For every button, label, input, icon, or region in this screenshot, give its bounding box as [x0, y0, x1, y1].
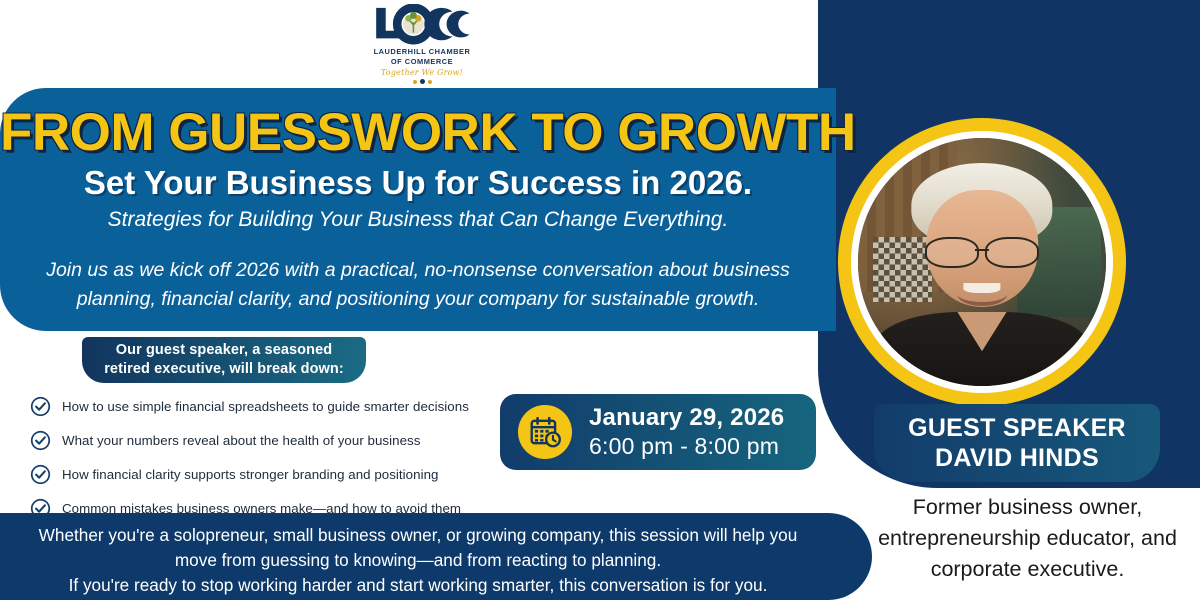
guest-speaker-callout: Our guest speaker, a seasoned retired ex… [82, 337, 366, 383]
list-item: How financial clarity supports stronger … [30, 460, 480, 488]
footer-line1: Whether you're a solopreneur, small busi… [12, 523, 824, 548]
speaker-name: DAVID HINDS [935, 443, 1099, 473]
check-circle-icon [30, 464, 51, 485]
footer-line3: If you're ready to stop working harder a… [12, 573, 824, 598]
hero-tagline: Strategies for Building Your Business th… [0, 208, 836, 232]
speaker-nameplate: GUEST SPEAKER DAVID HINDS [874, 404, 1160, 482]
check-circle-icon [30, 430, 51, 451]
chamber-logo-tagline: Together We Grow! [381, 68, 463, 77]
list-item-label: What your numbers reveal about the healt… [62, 433, 420, 448]
speaker-photo-inner-ring [851, 131, 1113, 393]
list-item: What your numbers reveal about the healt… [30, 426, 480, 454]
hero-subtitle: Set Your Business Up for Success in 2026… [0, 164, 836, 202]
speaker-photo-ring [838, 118, 1126, 406]
chamber-logo-name-line2: OF COMMERCE [374, 57, 471, 67]
event-time: 6:00 pm - 8:00 pm [589, 432, 784, 460]
footer-text: Whether you're a solopreneur, small busi… [12, 523, 824, 598]
speaker-label: GUEST SPEAKER [908, 413, 1126, 443]
calendar-clock-icon-badge [518, 405, 572, 459]
list-item: How to use simple financial spreadsheets… [30, 392, 480, 420]
hero-title: FROM GUESSWORK TO GROWTH [0, 102, 836, 163]
event-flyer: LAUDERHILL CHAMBER OF COMMERCE Together … [0, 0, 1200, 600]
speaker-portrait [858, 138, 1106, 386]
footer-band: Whether you're a solopreneur, small busi… [0, 513, 872, 600]
check-circle-icon [30, 396, 51, 417]
list-item-label: How to use simple financial spreadsheets… [62, 399, 469, 414]
chamber-logo-name-line1: LAUDERHILL CHAMBER [374, 47, 471, 57]
chamber-logo: LAUDERHILL CHAMBER OF COMMERCE Together … [352, 4, 492, 84]
chamber-logo-icon [368, 4, 476, 46]
calendar-clock-icon [528, 415, 562, 449]
logo-dots-decoration [413, 79, 432, 84]
list-item-label: How financial clarity supports stronger … [62, 467, 438, 482]
event-datetime-card: January 29, 2026 6:00 pm - 8:00 pm [500, 394, 816, 470]
footer-line2: move from guessing to knowing—and from r… [12, 548, 824, 573]
speaker-bio: Former business owner, entrepreneurship … [860, 492, 1195, 585]
callout-line2: retired executive, will break down: [104, 360, 344, 379]
event-date: January 29, 2026 [589, 404, 784, 432]
topic-list: How to use simple financial spreadsheets… [30, 392, 480, 528]
callout-line1: Our guest speaker, a seasoned [116, 341, 332, 360]
hero-banner: FROM GUESSWORK TO GROWTH Set Your Busine… [0, 88, 836, 331]
hero-body-text: Join us as we kick off 2026 with a pract… [14, 256, 822, 314]
chamber-logo-name: LAUDERHILL CHAMBER OF COMMERCE [374, 47, 471, 66]
